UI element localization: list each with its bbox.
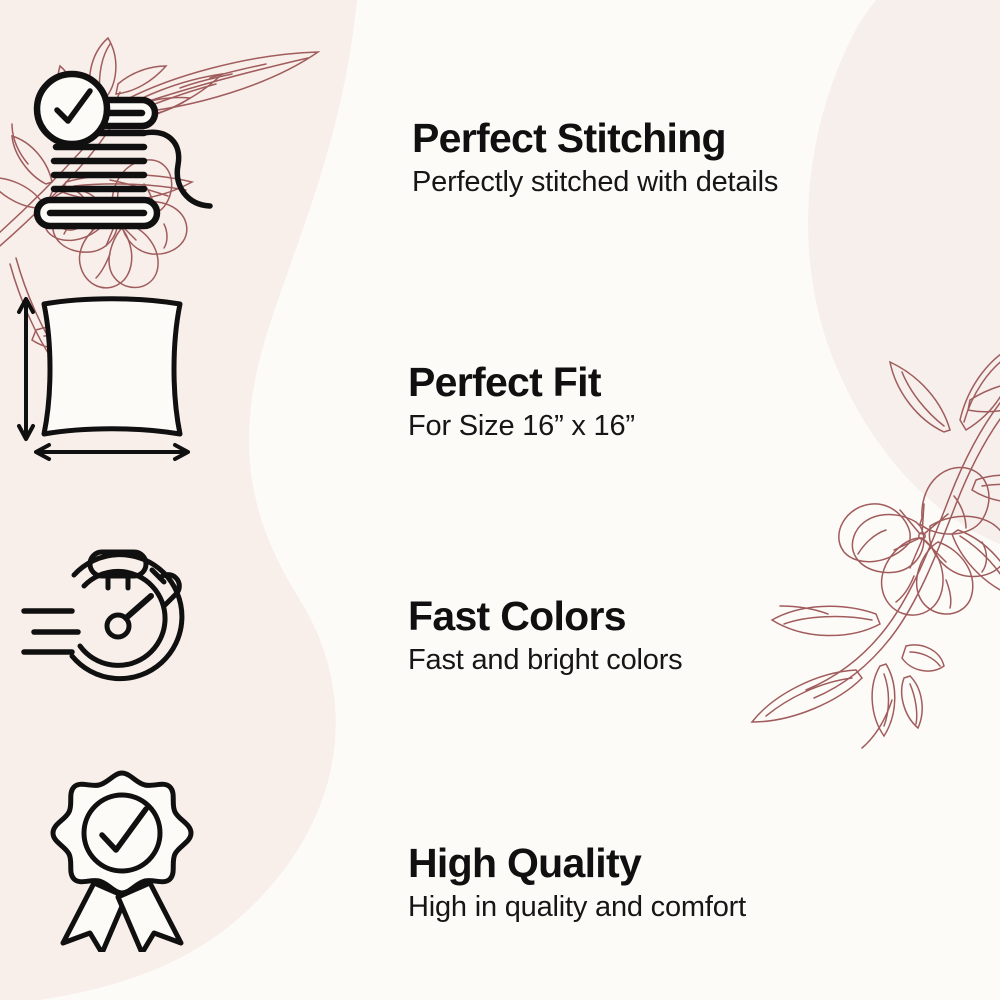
thread-spool-check-icon — [10, 59, 240, 259]
stopwatch-speed-icon — [4, 520, 234, 720]
feature-title: Perfect Stitching — [412, 117, 1000, 160]
feature-row: Perfect Fit For Size 16” x 16” — [0, 280, 1000, 480]
feature-infographic: Perfect Stitching Perfectly stitched wit… — [0, 0, 1000, 1000]
feature-text: Perfect Stitching Perfectly stitched wit… — [402, 117, 1000, 199]
feature-subtitle: Perfectly stitched with details — [412, 166, 1000, 198]
feature-subtitle: Fast and bright colors — [408, 644, 1000, 676]
feature-row: Fast Colors Fast and bright colors — [0, 518, 1000, 718]
feature-title: Fast Colors — [408, 595, 1000, 638]
feature-row: Perfect Stitching Perfectly stitched wit… — [0, 58, 1000, 258]
pillow-dimensions-icon — [2, 279, 232, 479]
feature-subtitle: For Size 16” x 16” — [408, 410, 1000, 442]
award-rosette-check-icon — [8, 755, 238, 955]
feature-text: Fast Colors Fast and bright colors — [398, 595, 1000, 677]
feature-title: High Quality — [408, 842, 1000, 885]
feature-row: High Quality High in quality and comfort — [0, 748, 1000, 953]
feature-text: High Quality High in quality and comfort — [398, 842, 1000, 924]
feature-title: Perfect Fit — [408, 361, 1000, 404]
feature-text: Perfect Fit For Size 16” x 16” — [398, 361, 1000, 443]
feature-subtitle: High in quality and comfort — [408, 891, 1000, 923]
